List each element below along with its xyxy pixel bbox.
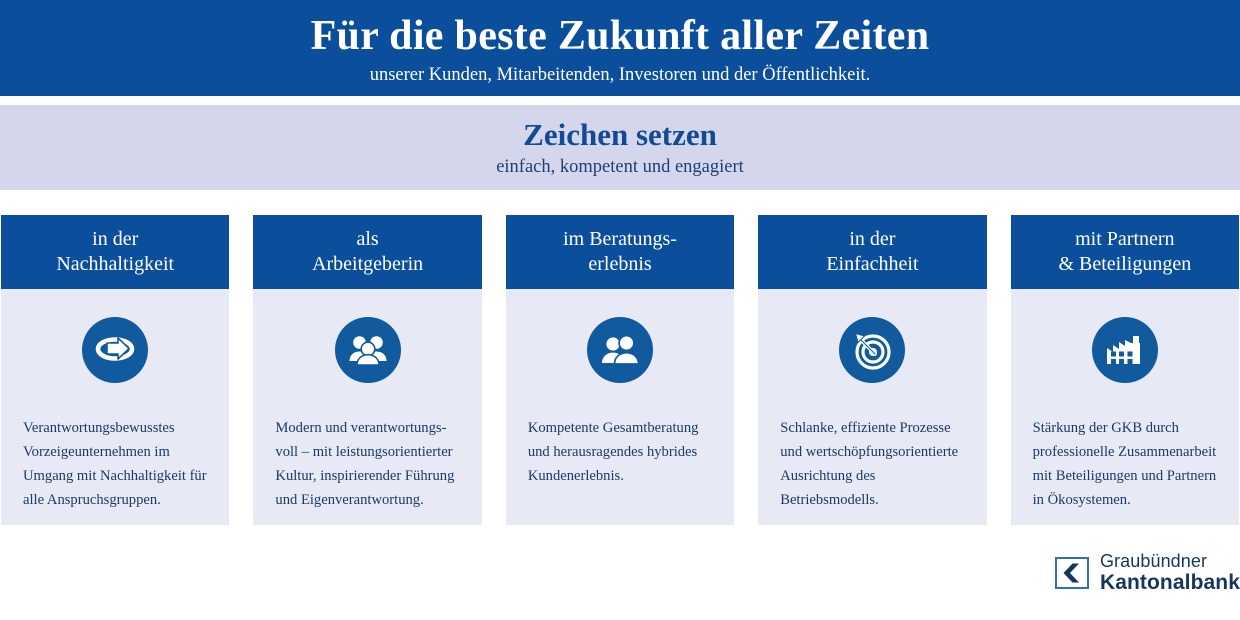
pillar-header: in der Einfachheit (758, 215, 986, 289)
pillar-header-line-2: & Beteiligungen (1058, 252, 1191, 277)
pillar-header-line-1: als (357, 227, 379, 252)
hero-title: Für die beste Zukunft aller Zeiten (311, 11, 930, 61)
logo-line-1: Graubündner (1100, 552, 1240, 570)
pillar-header-line-1: mit Partnern (1075, 227, 1174, 252)
pillar-header-line-1: in der (849, 227, 895, 252)
gkb-logo: Graubündner Kantonalbank (1055, 552, 1240, 593)
three-people-icon (335, 317, 401, 383)
pillar-header: als Arbeitgeberin (253, 215, 481, 289)
pillar-description: Stärkung der GKB durch professionelle Zu… (1011, 416, 1239, 512)
chevron-left-logo-icon (1055, 557, 1089, 589)
pillar-card-einfachheit: in der Einfachheit Schlank (758, 215, 986, 525)
claim-subtitle: einfach, kompetent und engagiert (496, 155, 744, 179)
pillar-description: Schlanke, effiziente Prozesse und wertsc… (758, 416, 986, 512)
pillar-body: Schlanke, effiziente Prozesse und wertsc… (758, 289, 986, 525)
pillar-card-partner-beteiligungen: mit Partnern & Beteiligungen (1011, 215, 1239, 525)
sustainability-loop-arrow-icon (82, 317, 148, 383)
target-dart-icon (839, 317, 905, 383)
pillar-header: mit Partnern & Beteiligungen (1011, 215, 1239, 289)
pillar-header: in der Nachhaltigkeit (1, 215, 229, 289)
pillar-header-line-2: erlebnis (588, 252, 651, 277)
logo-line-2: Kantonalbank (1100, 572, 1240, 593)
pillar-card-beratungserlebnis: im Beratungs- erlebnis Kompetente Gesamt… (506, 215, 734, 525)
pillar-header-line-2: Arbeitgeberin (312, 252, 423, 277)
two-people-icon (587, 317, 653, 383)
pillar-header-line-1: im Beratungs- (563, 227, 677, 252)
claim-band: Zeichen setzen einfach, kompetent und en… (0, 105, 1240, 190)
logo-wordmark: Graubündner Kantonalbank (1100, 552, 1240, 593)
pillar-card-row: in der Nachhaltigkeit Verantwortungsbewu… (0, 215, 1240, 525)
poster-root: Für die beste Zukunft aller Zeiten unser… (0, 0, 1240, 620)
factory-icon (1092, 317, 1158, 383)
pillar-header: im Beratungs- erlebnis (506, 215, 734, 289)
pillar-description: Kompetente Gesamtberatung und herausrage… (506, 416, 734, 488)
pillar-description: Modern und verantwortungs­voll – mit lei… (253, 416, 481, 512)
pillar-card-arbeitgeberin: als Arbeitgeberin (253, 215, 481, 525)
pillar-body: Stärkung der GKB durch professionelle Zu… (1011, 289, 1239, 525)
claim-title: Zeichen setzen (523, 116, 717, 154)
pillar-body: Modern und verantwortungs­voll – mit lei… (253, 289, 481, 525)
pillar-header-line-2: Einfachheit (826, 252, 918, 277)
pillar-card-nachhaltigkeit: in der Nachhaltigkeit Verantwortungsbewu… (1, 215, 229, 525)
hero-subtitle: unserer Kunden, Mitarbeitenden, Investor… (370, 63, 871, 87)
hero-banner: Für die beste Zukunft aller Zeiten unser… (0, 0, 1240, 96)
pillar-description: Verantwortungsbewusstes Vorzeigeunterneh… (1, 416, 229, 512)
pillar-header-line-1: in der (92, 227, 138, 252)
pillar-header-line-2: Nachhaltigkeit (56, 252, 174, 277)
pillar-body: Verantwortungsbewusstes Vorzeigeunterneh… (1, 289, 229, 525)
pillar-body: Kompetente Gesamtberatung und herausrage… (506, 289, 734, 525)
